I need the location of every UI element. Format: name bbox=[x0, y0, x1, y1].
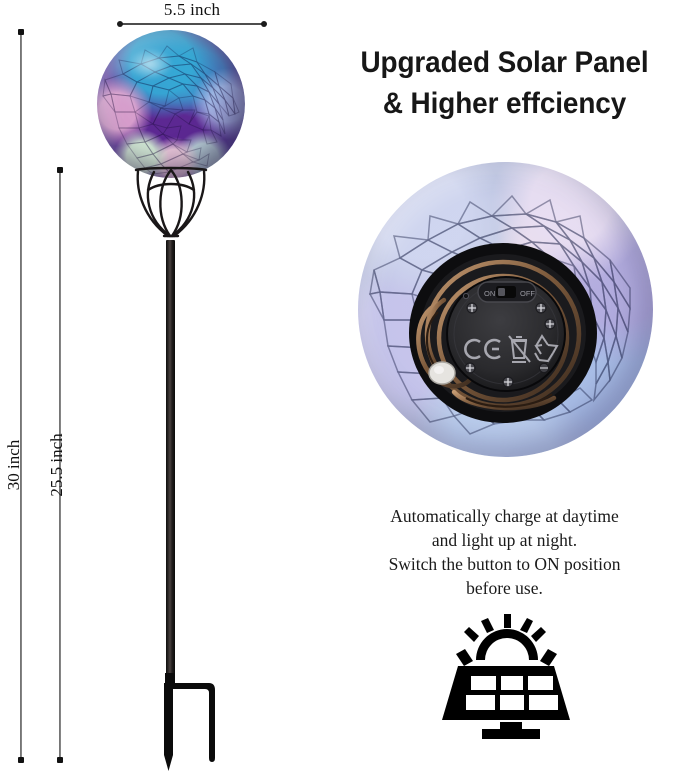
switch-on-label: ON bbox=[484, 289, 495, 298]
headline-line-1: Upgraded Solar Panel bbox=[360, 46, 648, 79]
instruction-line-3: Switch the button to ON position bbox=[338, 552, 671, 576]
solar-stake-light-illustration bbox=[80, 18, 280, 768]
instruction-text: Automatically charge at daytime and ligh… bbox=[338, 504, 671, 601]
photo-mosaic-ball: ON OFF bbox=[358, 162, 653, 457]
switch-off-label: OFF bbox=[520, 289, 535, 298]
headline-line-2: & Higher effciency bbox=[342, 83, 667, 124]
instruction-line-4: before use. bbox=[338, 576, 671, 600]
instruction-line-2: and light up at night. bbox=[338, 528, 671, 552]
globe-crackle-texture bbox=[97, 30, 245, 178]
solar-battery-housing: ON OFF bbox=[408, 242, 598, 424]
instruction-line-1: Automatically charge at daytime bbox=[338, 504, 671, 528]
headline: Upgraded Solar Panel & Higher effciency bbox=[342, 42, 667, 125]
stake-height-dimension-label: 25.5 inch bbox=[47, 420, 67, 510]
dimension-diagram-panel: 5.5 inch 30 inch 25.5 inch bbox=[0, 0, 330, 771]
lamp-pole bbox=[166, 240, 175, 688]
two-prong-ground-stake bbox=[128, 673, 228, 771]
infographic-canvas: 5.5 inch 30 inch 25.5 inch bbox=[0, 0, 679, 771]
mosaic-glass-globe bbox=[97, 30, 245, 178]
feature-panel: Upgraded Solar Panel & Higher effciency bbox=[330, 0, 679, 771]
width-dimension-label: 5.5 inch bbox=[108, 0, 276, 20]
total-height-dimension-label: 30 inch bbox=[4, 430, 24, 500]
total-height-dimension-line bbox=[20, 32, 22, 760]
solar-panel-sun-icon bbox=[438, 614, 574, 742]
decorative-wire-cage bbox=[134, 166, 208, 244]
globe-underside-photo: ON OFF bbox=[358, 162, 653, 457]
